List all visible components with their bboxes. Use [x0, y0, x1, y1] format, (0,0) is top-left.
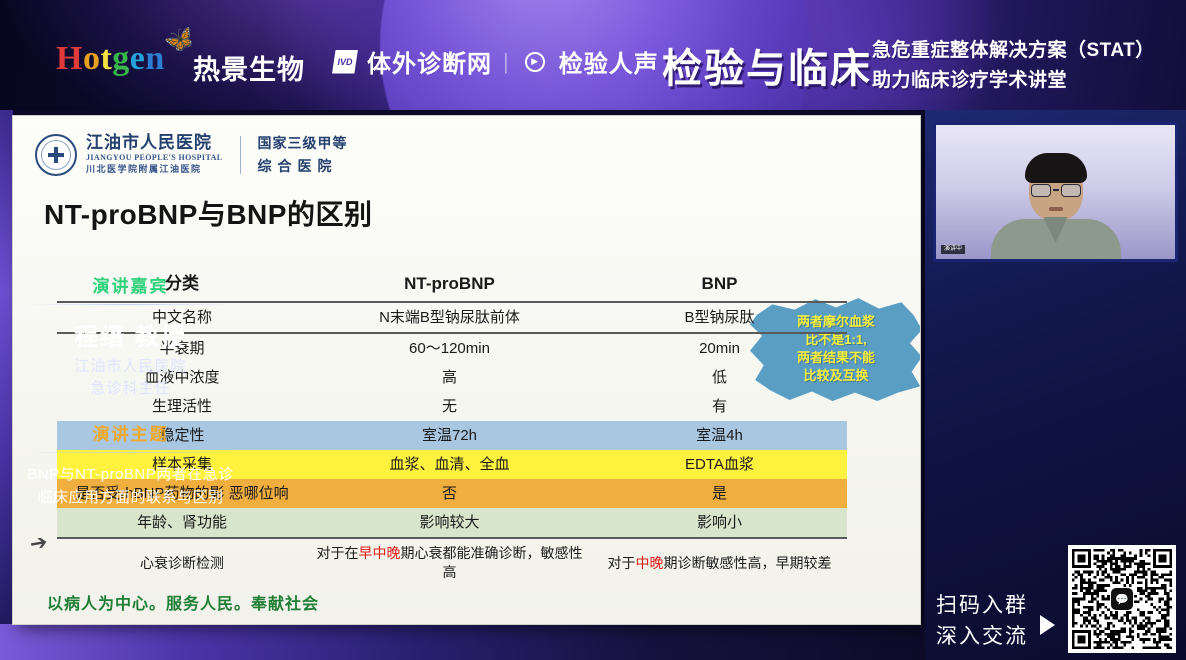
- guest-section-label: 演讲嘉宾: [0, 272, 261, 297]
- banner-main-title: 检验与临床: [662, 36, 872, 94]
- topic-section: 演讲主题 BNP与NT-proBNP两者在急诊 临床应用方面的联系与区别: [0, 420, 261, 509]
- scan-invite-text: 扫码入群 深入交流: [936, 590, 1028, 652]
- butterfly-icon: 🦋: [162, 24, 197, 57]
- speaker-name: 程缙 教授: [0, 317, 261, 352]
- table-header-bnp: BNP: [592, 268, 847, 302]
- hospital-grade-line1: 国家三级甲等: [258, 133, 348, 153]
- speaker-org-line2: 急诊科主任: [0, 378, 261, 400]
- table-cell-bnp: 影响小: [592, 508, 847, 538]
- hospital-affiliate-cn: 川北医学院附属江油医院: [86, 164, 223, 175]
- logo-divider: |: [501, 49, 511, 75]
- speaker-org-line1: 江油市人民医院: [0, 356, 261, 378]
- table-cell-bnp: 对于中晚期诊断敏感性高，早期较差: [592, 538, 847, 587]
- table-cell-bnp: B型钠尿肽: [592, 302, 847, 333]
- scan-line-2: 深入交流: [936, 621, 1028, 652]
- hotgen-logo-latin: Hotgen: [56, 40, 165, 78]
- speaker-video-feed[interactable]: 演讲中: [933, 122, 1178, 262]
- hospital-name-cn: 江油市人民医院: [86, 134, 223, 152]
- hotgen-logo-cn: 热景生物: [193, 48, 305, 87]
- wechat-qr-code[interactable]: 💬: [1072, 549, 1172, 649]
- topic-line-2: 临床应用方面的联系与区别: [0, 486, 261, 509]
- topic-section-label: 演讲主题: [0, 420, 261, 445]
- table-row: 年龄、肾功能影响较大影响小: [57, 508, 847, 538]
- bottom-background-strip: [0, 624, 925, 660]
- logo-vertical-divider: [240, 136, 241, 174]
- sound-logo-text: 检验人声: [559, 44, 659, 79]
- table-header-ntprobnp: NT-proBNP: [307, 268, 592, 302]
- guest-divider: [28, 304, 233, 305]
- table-cell-bnp: 室温4h: [592, 421, 847, 450]
- wechat-icon: 💬: [1111, 588, 1133, 610]
- banner-subtitles: 急危重症整体解决方案（STAT） 助力临床诊疗学术讲堂: [872, 36, 1155, 96]
- highlighted-term: 中晚: [636, 555, 664, 571]
- table-cell-ntprobnp: 否: [307, 479, 592, 508]
- table-cell-bnp: 20min: [592, 333, 847, 363]
- table-cell-ntprobnp: 血浆、血清、全血: [307, 450, 592, 479]
- table-cell-ntprobnp: 高: [307, 363, 592, 392]
- table-cell-bnp: 是: [592, 479, 847, 508]
- table-cell-ntprobnp: 60～120min: [307, 333, 592, 363]
- qr-code-container[interactable]: 💬: [1068, 545, 1176, 653]
- table-row: 心衰诊断检测对于在早中晚期心衰都能准确诊断，敏感性高对于中晚期诊断敏感性高，早期…: [57, 538, 847, 587]
- hospital-logo: 江油市人民医院 JIANGYOU PEOPLE'S HOSPITAL 川北医学院…: [35, 133, 348, 176]
- table-cell-category: 心衰诊断检测: [57, 538, 307, 587]
- topic-line-1: BNP与NT-proBNP两者在急诊: [0, 463, 261, 486]
- table-cell-bnp: EDTA血浆: [592, 450, 847, 479]
- ivd-logo-text: 体外诊断网: [367, 44, 492, 79]
- topic-divider: [28, 452, 233, 453]
- table-cell-ntprobnp: N末端B型钠尿肽前体: [307, 302, 592, 333]
- mouse-cursor-icon: ➔: [28, 532, 48, 556]
- hospital-grade-line2: 综合医院: [258, 156, 348, 176]
- table-cell-ntprobnp: 室温72h: [307, 421, 592, 450]
- table-cell-bnp: 低: [592, 363, 847, 392]
- hospital-name-en: JIANGYOU PEOPLE'S HOSPITAL: [86, 153, 223, 163]
- ivd-logo-group: IVD 体外诊断网 | ▶ 检验人声: [332, 44, 659, 79]
- ivd-mark-icon: IVD: [332, 50, 358, 74]
- screen-root: Hotgen 🦋 热景生物 IVD 体外诊断网 | ▶ 检验人声 检验与临床 急…: [0, 0, 1186, 660]
- slide-footer-slogan: 以病人为中心。服务人民。奉献社会: [47, 590, 319, 614]
- play-triangle-icon[interactable]: [1040, 615, 1055, 635]
- table-cell-ntprobnp: 对于在早中晚期心衰都能准确诊断，敏感性高: [307, 538, 592, 587]
- video-status-tag: 演讲中: [941, 245, 965, 254]
- banner-subtitle-1: 急危重症整体解决方案（STAT）: [872, 36, 1155, 66]
- hospital-seal-icon: [35, 134, 77, 176]
- slide-title: NT-proBNP与BNP的区别: [44, 193, 372, 233]
- scan-line-1: 扫码入群: [936, 590, 1028, 621]
- guest-section: 演讲嘉宾 程缙 教授 江油市人民医院 急诊科主任: [0, 272, 261, 400]
- table-cell-bnp: 有: [592, 392, 847, 421]
- speaker-avatar: [991, 159, 1121, 262]
- table-cell-ntprobnp: 无: [307, 392, 592, 421]
- table-cell-category: 年龄、肾功能: [57, 508, 307, 538]
- highlighted-term: 早中晚: [359, 545, 401, 561]
- sound-wave-icon: ▶: [520, 49, 550, 75]
- banner-subtitle-2: 助力临床诊疗学术讲堂: [872, 66, 1155, 96]
- header-banner: Hotgen 🦋 热景生物 IVD 体外诊断网 | ▶ 检验人声 检验与临床 急…: [0, 0, 1186, 110]
- table-cell-ntprobnp: 影响较大: [307, 508, 592, 538]
